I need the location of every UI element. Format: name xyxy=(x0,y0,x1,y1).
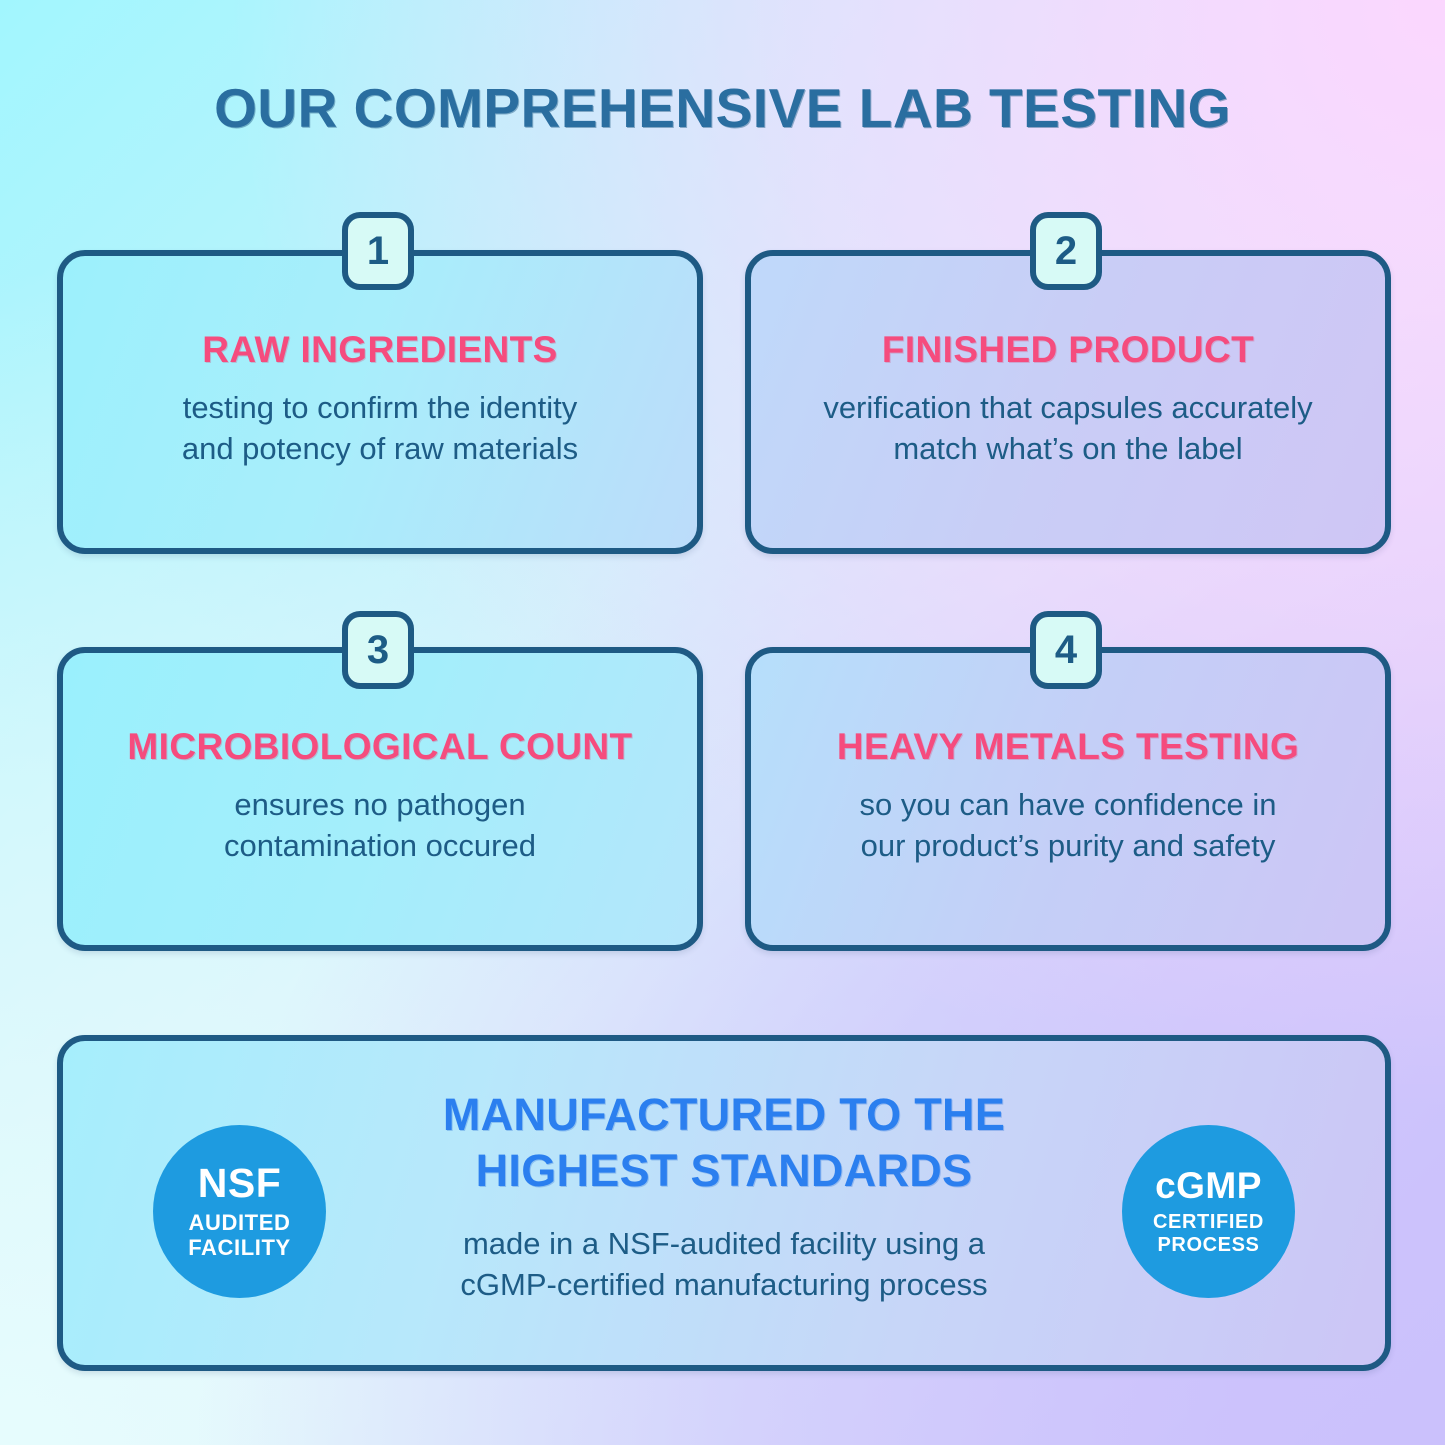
card-content: RAW INGREDIENTS testing to confirm the i… xyxy=(63,256,697,548)
card-title: HEAVY METALS TESTING xyxy=(837,726,1299,768)
card-body: ensures no pathogen contamination occure… xyxy=(224,784,536,866)
seal-main-label: NSF xyxy=(198,1163,282,1204)
card-body: so you can have confidence in our produc… xyxy=(859,784,1276,866)
lab-test-card-2: FINISHED PRODUCT verification that capsu… xyxy=(745,250,1391,554)
panel-text-block: MANUFACTURED TO THE HIGHEST STANDARDS ma… xyxy=(363,1087,1085,1306)
card-body: verification that capsules accurately ma… xyxy=(823,387,1312,469)
card-content: HEAVY METALS TESTING so you can have con… xyxy=(751,653,1385,945)
lab-test-card-1: RAW INGREDIENTS testing to confirm the i… xyxy=(57,250,703,554)
card-content: MICROBIOLOGICAL COUNT ensures no pathoge… xyxy=(63,653,697,945)
card-title: RAW INGREDIENTS xyxy=(202,329,557,371)
lab-test-card-3: MICROBIOLOGICAL COUNT ensures no pathoge… xyxy=(57,647,703,951)
panel-heading: MANUFACTURED TO THE HIGHEST STANDARDS xyxy=(363,1087,1085,1199)
seal-main-label: cGMP xyxy=(1155,1167,1262,1204)
lab-test-card-4: HEAVY METALS TESTING so you can have con… xyxy=(745,647,1391,951)
manufacturing-standards-panel: NSF AUDITED FACILITY MANUFACTURED TO THE… xyxy=(57,1035,1391,1371)
step-number-badge-3: 3 xyxy=(342,611,414,689)
card-content: FINISHED PRODUCT verification that capsu… xyxy=(751,256,1385,548)
step-number-badge-2: 2 xyxy=(1030,212,1102,290)
cgmp-certified-process-seal-icon: cGMP CERTIFIED PROCESS xyxy=(1122,1125,1295,1298)
nsf-audited-facility-seal-icon: NSF AUDITED FACILITY xyxy=(153,1125,326,1298)
step-number-badge-1: 1 xyxy=(342,212,414,290)
step-number-badge-4: 4 xyxy=(1030,611,1102,689)
card-title: FINISHED PRODUCT xyxy=(882,329,1254,371)
panel-subtext: made in a NSF-audited facility using a c… xyxy=(363,1223,1085,1307)
seal-sub-label: AUDITED FACILITY xyxy=(188,1211,291,1261)
page-title: OUR COMPREHENSIVE LAB TESTING xyxy=(0,76,1445,140)
infographic-page: OUR COMPREHENSIVE LAB TESTING RAW INGRED… xyxy=(0,0,1445,1445)
card-title: MICROBIOLOGICAL COUNT xyxy=(127,726,632,768)
card-body: testing to confirm the identity and pote… xyxy=(182,387,578,469)
seal-sub-label: CERTIFIED PROCESS xyxy=(1153,1211,1264,1256)
